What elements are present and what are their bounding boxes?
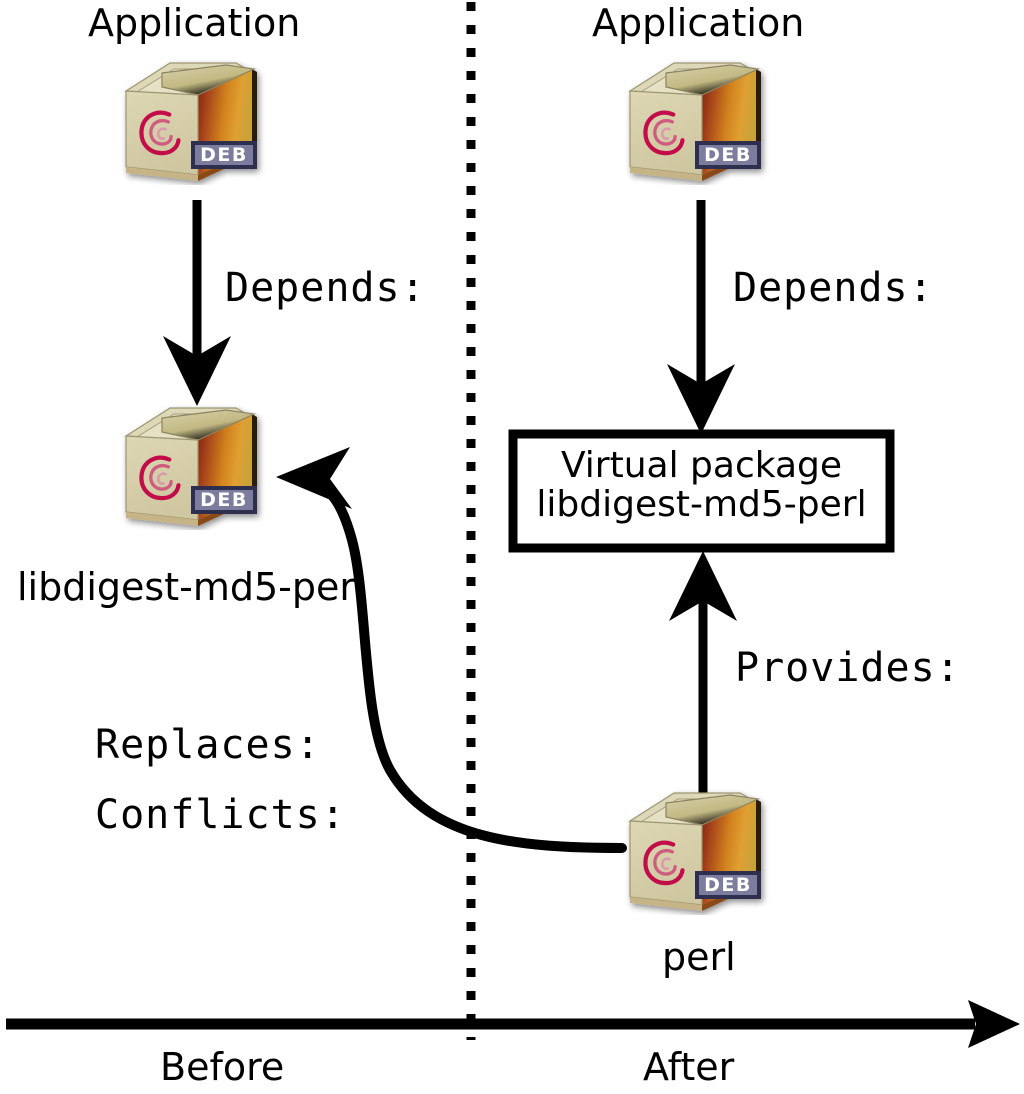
right-depends-arrow [667,200,735,434]
diagram-canvas: DEB [0,0,1024,1094]
left-depends-arrow [163,200,231,406]
label-provides: Provides: [735,648,961,688]
heading-application-after: Application [592,4,804,42]
virtual-package-line1: Virtual package [513,447,890,486]
label-libdigest-md5-perl: libdigest-md5-perl [17,568,366,606]
virtual-package-box-text: Virtual package libdigest-md5-perl [513,447,890,525]
label-depends-before: Depends: [225,268,426,308]
heading-application-before: Application [88,4,300,42]
timeline-label-before: Before [160,1048,284,1086]
package-icon-libdigest-md5-perl [126,408,257,526]
label-conflicts: Conflicts: [95,795,346,835]
time-axis-arrow [6,1000,1020,1048]
package-icon-app-after [630,63,761,181]
provides-arrow [669,551,737,800]
package-icon-perl [630,793,761,911]
virtual-package-line2: libdigest-md5-perl [513,486,890,525]
label-replaces: Replaces: [95,725,321,765]
timeline-label-after: After [643,1048,734,1086]
label-perl: perl [662,938,736,976]
diagram-vector-layer: DEB [0,0,1024,1094]
package-icon-app-before [126,63,257,181]
label-depends-after: Depends: [733,268,934,308]
